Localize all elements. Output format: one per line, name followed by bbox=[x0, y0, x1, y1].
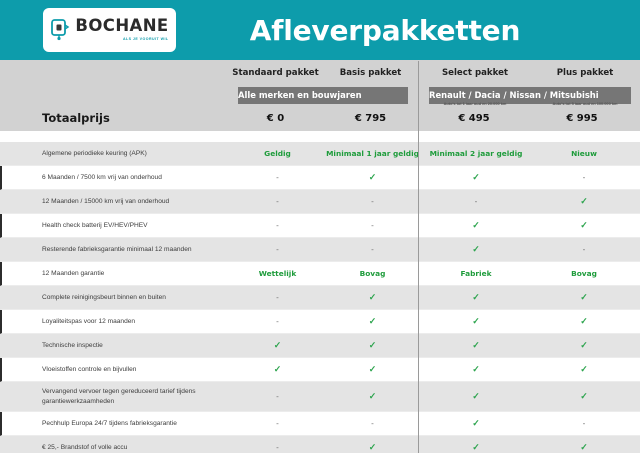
table-row: 6 Maanden / 7500 km vrij van onderhoud-✓… bbox=[0, 166, 640, 190]
check-icon: ✓ bbox=[274, 364, 282, 374]
table-row: 12 Maanden garantieWettelijkBovagFabriek… bbox=[0, 262, 640, 286]
cell-check-icon: ✓ bbox=[422, 364, 530, 375]
cell-text: Nieuw bbox=[530, 149, 638, 158]
cell-dash: - bbox=[325, 419, 420, 428]
table-row: Complete reinigingsbeurt binnen en buite… bbox=[0, 286, 640, 310]
dash-icon: - bbox=[371, 245, 374, 254]
dash-icon: - bbox=[276, 293, 279, 302]
cell-check-icon: ✓ bbox=[530, 220, 638, 231]
cell-check-icon: ✓ bbox=[325, 292, 420, 303]
row-label: Complete reinigingsbeurt binnen en buite… bbox=[2, 293, 230, 303]
check-icon: ✓ bbox=[369, 340, 377, 350]
row-label: Loyaliteitspas voor 12 maanden bbox=[2, 317, 230, 327]
cell-text: Minimaal 2 jaar geldig bbox=[422, 149, 530, 158]
table-body: Algemene periodieke keuring (APK)GeldigM… bbox=[0, 142, 640, 453]
cell-check-icon: ✓ bbox=[530, 340, 638, 351]
price-plus: € 995 bbox=[528, 113, 636, 124]
row-label: Vloeistoffen controle en bijvullen bbox=[2, 365, 230, 375]
check-icon: ✓ bbox=[472, 316, 480, 326]
check-icon: ✓ bbox=[369, 391, 377, 401]
cell-check-icon: ✓ bbox=[325, 316, 420, 327]
group-right-titles: Select pakket Plus pakket bbox=[420, 68, 640, 78]
dash-icon: - bbox=[583, 419, 586, 428]
cell-check-icon: ✓ bbox=[325, 364, 420, 375]
price-select: € 495 bbox=[420, 113, 528, 124]
dash-icon: - bbox=[276, 245, 279, 254]
header-bar: BOCHANE ALS JE VOORUIT WIL bbox=[0, 0, 640, 60]
cell-dash: - bbox=[230, 173, 325, 182]
check-icon: ✓ bbox=[472, 391, 480, 401]
cell-dash: - bbox=[230, 392, 325, 401]
cell-check-icon: ✓ bbox=[530, 196, 638, 207]
cell-text: Wettelijk bbox=[230, 269, 325, 278]
dash-icon: - bbox=[371, 221, 374, 230]
cell-check-icon: ✓ bbox=[530, 391, 638, 402]
dash-icon: - bbox=[276, 317, 279, 326]
dash-icon: - bbox=[276, 197, 279, 206]
column-title-basis: Basis pakket bbox=[323, 68, 418, 78]
cell-check-icon: ✓ bbox=[530, 364, 638, 375]
cell-text: Geldig bbox=[230, 149, 325, 158]
check-icon: ✓ bbox=[369, 364, 377, 374]
cell-text: Fabriek bbox=[461, 269, 492, 278]
cell-dash: - bbox=[530, 419, 638, 428]
check-icon: ✓ bbox=[580, 340, 588, 350]
group-divider bbox=[418, 61, 419, 453]
table-row: € 25,- Brandstof of volle accu-✓✓✓ bbox=[0, 436, 640, 453]
column-title-plus: Plus pakket bbox=[530, 68, 640, 78]
cell-check-icon: ✓ bbox=[230, 364, 325, 375]
cell-check-icon: ✓ bbox=[422, 292, 530, 303]
check-icon: ✓ bbox=[580, 391, 588, 401]
check-icon: ✓ bbox=[274, 340, 282, 350]
row-label: Pechhulp Europa 24/7 tijdens fabrieksgar… bbox=[2, 419, 230, 429]
dash-icon: - bbox=[276, 392, 279, 401]
table-row: Pechhulp Europa 24/7 tijdens fabrieksgar… bbox=[0, 412, 640, 436]
cell-dash: - bbox=[230, 245, 325, 254]
table-row: Loyaliteitspas voor 12 maanden-✓✓✓ bbox=[0, 310, 640, 334]
logo[interactable]: BOCHANE ALS JE VOORUIT WIL bbox=[43, 8, 176, 52]
cell-dash: - bbox=[230, 293, 325, 302]
check-icon: ✓ bbox=[369, 172, 377, 182]
cell-dash: - bbox=[530, 173, 638, 182]
check-icon: ✓ bbox=[369, 442, 377, 452]
cell-check-icon: ✓ bbox=[422, 316, 530, 327]
cell-text: Bovag bbox=[325, 269, 420, 278]
table-row: Vloeistoffen controle en bijvullen✓✓✓✓ bbox=[0, 358, 640, 382]
check-icon: ✓ bbox=[472, 442, 480, 452]
cell-dash: - bbox=[422, 197, 530, 206]
row-label: Resterende fabrieksgarantie minimaal 12 … bbox=[2, 245, 230, 255]
check-icon: ✓ bbox=[472, 364, 480, 374]
table-row: Health check batterij EV/HEV/PHEV--✓✓ bbox=[0, 214, 640, 238]
cell-text: Nieuw bbox=[571, 149, 597, 158]
cell-text: Bovag bbox=[571, 269, 597, 278]
dash-icon: - bbox=[371, 419, 374, 428]
check-icon: ✓ bbox=[369, 292, 377, 302]
cell-text: Wettelijk bbox=[259, 269, 297, 278]
cell-check-icon: ✓ bbox=[530, 316, 638, 327]
cell-dash: - bbox=[230, 317, 325, 326]
cell-text: Minimaal 2 jaar geldig bbox=[430, 149, 523, 158]
cell-text: Minimaal 1 jaar geldig bbox=[326, 149, 419, 158]
check-icon: ✓ bbox=[472, 292, 480, 302]
dash-icon: - bbox=[276, 443, 279, 452]
cell-dash: - bbox=[530, 245, 638, 254]
row-label: Algemene periodieke keuring (APK) bbox=[2, 149, 230, 159]
price-basis: € 795 bbox=[323, 113, 418, 124]
cell-dash: - bbox=[230, 221, 325, 230]
cell-check-icon: ✓ bbox=[325, 172, 420, 183]
cell-text: Bovag bbox=[360, 269, 386, 278]
row-label: 12 Maanden garantie bbox=[2, 269, 230, 279]
row-label: 12 Maanden / 15000 km vrij van onderhoud bbox=[2, 197, 230, 207]
row-label: Technische inspectie bbox=[2, 341, 230, 351]
table-row: Algemene periodieke keuring (APK)GeldigM… bbox=[0, 142, 640, 166]
row-label: 6 Maanden / 7500 km vrij van onderhoud bbox=[2, 173, 230, 183]
cell-check-icon: ✓ bbox=[422, 340, 530, 351]
bochane-logo-icon bbox=[50, 17, 70, 43]
row-label: € 25,- Brandstof of volle accu bbox=[2, 443, 230, 453]
check-icon: ✓ bbox=[472, 220, 480, 230]
dash-icon: - bbox=[583, 245, 586, 254]
total-price-label: Totaalprijs bbox=[0, 111, 228, 125]
packages-table: Standaard pakket Basis pakket Alle merke… bbox=[0, 60, 640, 453]
dash-icon: - bbox=[276, 221, 279, 230]
cell-dash: - bbox=[230, 443, 325, 452]
cell-check-icon: ✓ bbox=[325, 442, 420, 453]
cell-check-icon: ✓ bbox=[325, 340, 420, 351]
dash-icon: - bbox=[276, 173, 279, 182]
cell-check-icon: ✓ bbox=[422, 391, 530, 402]
check-icon: ✓ bbox=[580, 292, 588, 302]
cell-check-icon: ✓ bbox=[422, 220, 530, 231]
cell-check-icon: ✓ bbox=[230, 340, 325, 351]
logo-tagline: ALS JE VOORUIT WIL bbox=[123, 38, 169, 42]
afleverpakketten-page: BOCHANE ALS JE VOORUIT WIL Afleverpakket… bbox=[0, 0, 640, 453]
total-price-row: Totaalprijs € 0 € 795 € 495 € 995 bbox=[0, 105, 640, 131]
group-left-bar: Alle merken en bouwjaren bbox=[238, 87, 408, 104]
cell-check-icon: ✓ bbox=[530, 292, 638, 303]
cell-dash: - bbox=[230, 419, 325, 428]
dash-icon: - bbox=[475, 197, 478, 206]
check-icon: ✓ bbox=[580, 316, 588, 326]
column-title-select: Select pakket bbox=[420, 68, 530, 78]
cell-text: Minimaal 1 jaar geldig bbox=[325, 149, 420, 158]
check-icon: ✓ bbox=[472, 244, 480, 254]
price-standaard: € 0 bbox=[228, 113, 323, 124]
row-label: Vervangend vervoer tegen gereduceerd tar… bbox=[2, 387, 230, 406]
logo-text: BOCHANE ALS JE VOORUIT WIL bbox=[75, 18, 168, 41]
column-title-standaard: Standaard pakket bbox=[228, 68, 323, 78]
table-row: 12 Maanden / 15000 km vrij van onderhoud… bbox=[0, 190, 640, 214]
cell-text: Fabriek bbox=[422, 269, 530, 278]
dash-icon: - bbox=[583, 173, 586, 182]
cell-dash: - bbox=[325, 245, 420, 254]
check-icon: ✓ bbox=[580, 442, 588, 452]
table-row: Technische inspectie✓✓✓✓ bbox=[0, 334, 640, 358]
cell-check-icon: ✓ bbox=[422, 418, 530, 429]
check-icon: ✓ bbox=[472, 172, 480, 182]
dash-icon: - bbox=[371, 197, 374, 206]
cell-text: Geldig bbox=[264, 149, 291, 158]
check-icon: ✓ bbox=[580, 196, 588, 206]
check-icon: ✓ bbox=[580, 220, 588, 230]
cell-check-icon: ✓ bbox=[325, 391, 420, 402]
cell-text: Bovag bbox=[530, 269, 638, 278]
check-icon: ✓ bbox=[472, 340, 480, 350]
check-icon: ✓ bbox=[369, 316, 377, 326]
cell-check-icon: ✓ bbox=[422, 244, 530, 255]
table-header: Standaard pakket Basis pakket Alle merke… bbox=[0, 60, 640, 105]
check-icon: ✓ bbox=[472, 418, 480, 428]
check-icon: ✓ bbox=[580, 364, 588, 374]
cell-dash: - bbox=[230, 197, 325, 206]
row-label: Health check batterij EV/HEV/PHEV bbox=[2, 221, 230, 231]
cell-check-icon: ✓ bbox=[422, 442, 530, 453]
logo-wordmark: BOCHANE bbox=[75, 18, 168, 35]
cell-check-icon: ✓ bbox=[530, 442, 638, 453]
cell-check-icon: ✓ bbox=[422, 172, 530, 183]
header-spacer bbox=[0, 131, 640, 142]
cell-dash: - bbox=[325, 221, 420, 230]
table-row: Resterende fabrieksgarantie minimaal 12 … bbox=[0, 238, 640, 262]
table-row: Vervangend vervoer tegen gereduceerd tar… bbox=[0, 382, 640, 412]
group-left-titles: Standaard pakket Basis pakket bbox=[228, 68, 418, 78]
cell-dash: - bbox=[325, 197, 420, 206]
dash-icon: - bbox=[276, 419, 279, 428]
